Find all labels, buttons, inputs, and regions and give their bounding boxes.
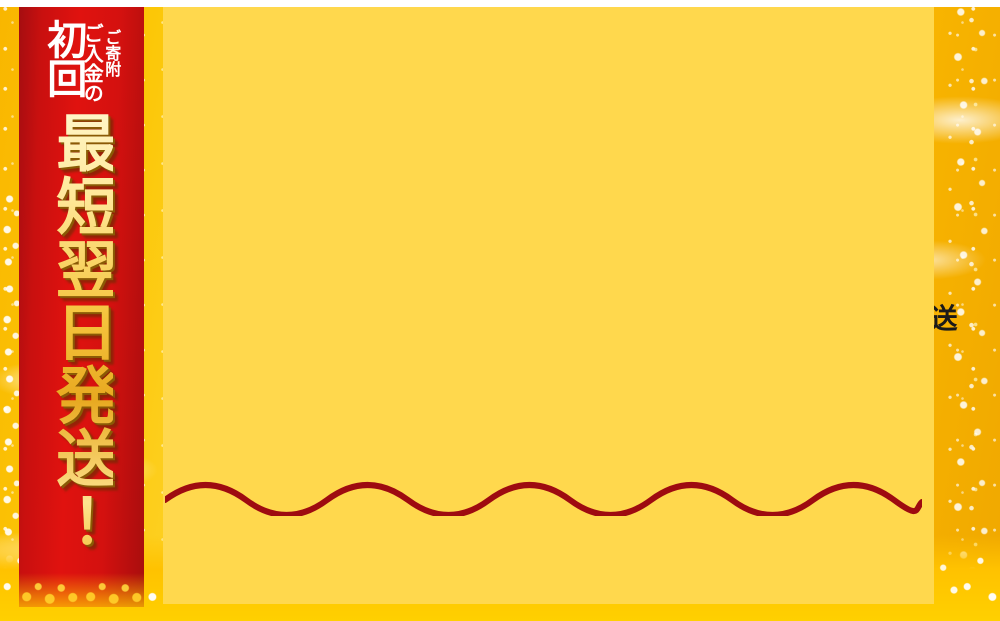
banner-sparkle-foot: [19, 573, 144, 607]
banner-badge-kifu: ご寄附: [103, 29, 119, 87]
promo-banner: 初回 ご入金の ご寄附 最短翌日発送！: [19, 7, 144, 607]
banner-badge-nyukin: ご入金の: [82, 23, 102, 107]
banner-root: 初回 ご入金の ご寄附 最短翌日発送！ ≪初回のお届け≫ ・最短翌日、土日祝に当…: [0, 0, 1000, 621]
banner-headline-wrap: 最短翌日発送！: [19, 111, 144, 581]
content-panel: [163, 7, 934, 604]
banner-badge-shokai: 初回: [44, 19, 82, 105]
banner-headline: 最短翌日発送！: [50, 111, 113, 577]
banner-badge-group: 初回 ご入金の ご寄附: [19, 19, 144, 111]
top-white-trim: [0, 0, 1000, 7]
